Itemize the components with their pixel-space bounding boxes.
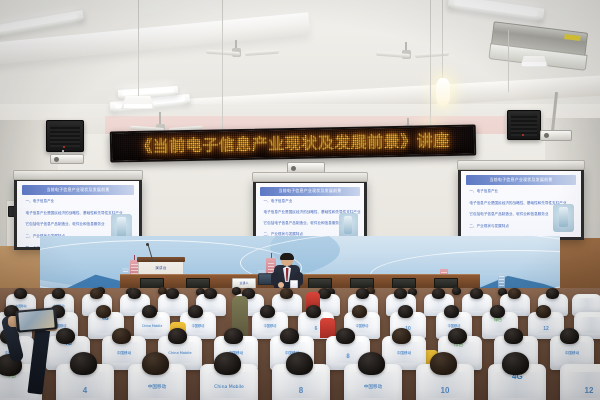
audience-head	[96, 305, 111, 318]
audience-head	[52, 288, 65, 299]
audience-head	[444, 305, 459, 318]
smartphone-icon	[15, 307, 58, 332]
audience-head	[432, 288, 445, 299]
audience-head	[502, 352, 529, 375]
audience-head	[142, 305, 157, 318]
audience-head	[392, 328, 411, 344]
audience: 中国移动 中国移动	[0, 0, 600, 400]
audience-head	[112, 328, 131, 344]
chair-brand-label: 中国移动	[382, 352, 426, 356]
audience-head	[166, 288, 179, 299]
chair-brand-label: 中国移动	[252, 325, 288, 328]
audience-head	[90, 288, 103, 299]
audience-head	[398, 305, 413, 318]
audience-head	[142, 352, 169, 375]
audience-head	[70, 352, 97, 375]
audience-head	[224, 328, 243, 344]
chair-seat-number: 10	[416, 386, 474, 395]
audience-head	[560, 328, 579, 344]
audience-head	[128, 288, 141, 299]
audience-head	[260, 305, 275, 318]
audience-head	[358, 352, 385, 375]
audience-chair: 12	[560, 364, 600, 400]
audience-head	[452, 287, 461, 295]
audience-head	[280, 288, 293, 299]
audience-head	[356, 288, 369, 299]
chair-seat-number: 12	[560, 386, 600, 395]
audience-head	[430, 352, 457, 375]
chair-brand-label: 中国移动	[102, 352, 146, 356]
chair-seat-number: 12	[528, 326, 564, 332]
audience-head	[280, 328, 299, 344]
audience-person-red	[320, 318, 335, 338]
audience-head	[394, 288, 407, 299]
audience-head	[204, 288, 217, 299]
chair-brand-label: China Mobile	[200, 386, 258, 391]
audience-head	[508, 288, 521, 299]
chair-brand-label: 中国移动	[344, 386, 402, 391]
chair-seat-number: 4	[56, 386, 114, 395]
audience-head	[490, 305, 505, 318]
audience-head	[168, 328, 187, 344]
audience-head	[188, 305, 203, 318]
chair-brand-label: China Mobile	[134, 325, 170, 328]
audience-head	[336, 328, 355, 344]
auditorium-photo: 《当前电子信息产业现状及发展前景》讲座 当前电子信息产业现状及发展前景 一、电子…	[0, 0, 600, 400]
audience-head	[352, 305, 367, 318]
chair-seat-number: 8	[272, 386, 330, 395]
audience-head	[546, 288, 559, 299]
chair-brand-label: 中国移动	[550, 352, 594, 356]
audience-head	[470, 288, 483, 299]
audience-head	[504, 328, 523, 344]
phone-screen	[18, 310, 54, 331]
audience-head	[56, 328, 75, 344]
audience-head	[448, 328, 467, 344]
audience-head	[14, 288, 27, 299]
audience-head	[286, 352, 313, 375]
chair-brand-label: 中国移动	[128, 386, 186, 391]
audience-head	[536, 305, 551, 318]
audience-head	[306, 305, 321, 318]
audience-head	[214, 352, 241, 375]
